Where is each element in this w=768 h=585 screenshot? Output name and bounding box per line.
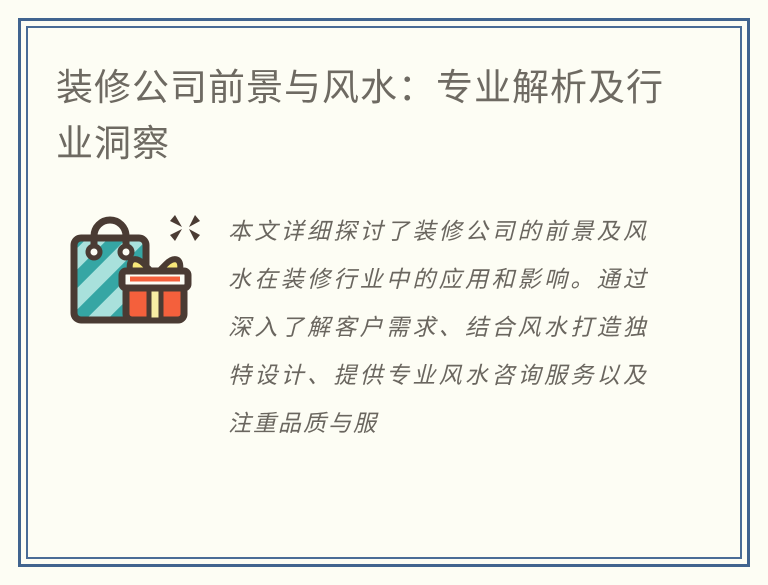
article-card: 装修公司前景与风水：专业解析及行业洞察 [0, 0, 768, 585]
page-title: 装修公司前景与风水：专业解析及行业洞察 [56, 60, 696, 172]
sparkle-icon [170, 215, 200, 241]
summary-row: 本文详细探讨了装修公司的前景及风水在装修行业中的应用和影响。通过深入了解客户需求… [26, 208, 742, 468]
shopping-bag-gift-icon [58, 208, 204, 338]
card-content: 装修公司前景与风水：专业解析及行业洞察 [26, 26, 742, 559]
article-summary: 本文详细探讨了装修公司的前景及风水在装修行业中的应用和影响。通过深入了解客户需求… [228, 208, 648, 448]
